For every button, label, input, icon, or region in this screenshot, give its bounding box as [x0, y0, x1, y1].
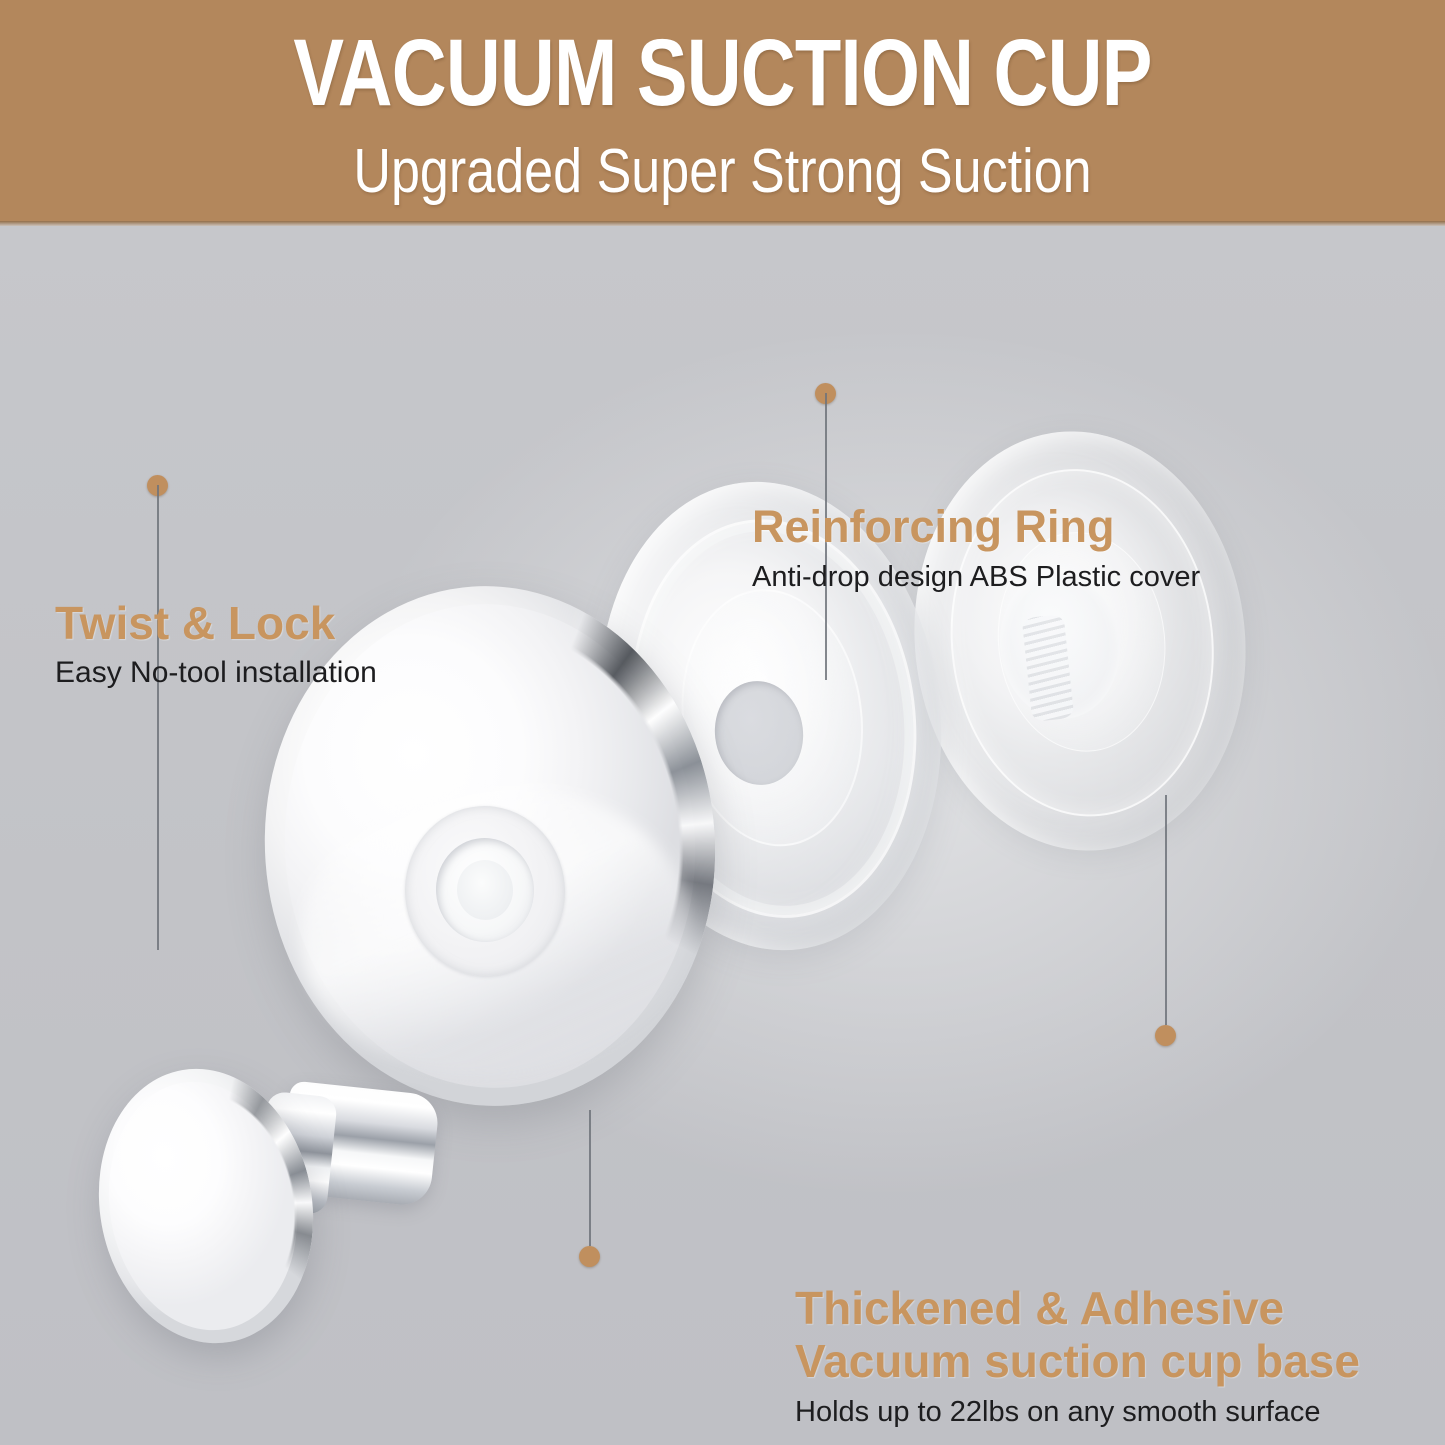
product-illustration — [0, 226, 1445, 1445]
leader-line-steel-material — [589, 1110, 591, 1246]
leader-line-suction-base — [1165, 795, 1167, 1025]
callout-reinforcing-ring-subtext: Anti-drop design ABS Plastic cover — [752, 557, 1200, 597]
callout-reinforcing-ring-heading: Reinforcing Ring — [752, 500, 1200, 554]
callout-reinforcing-ring: Reinforcing Ring Anti-drop design ABS Pl… — [752, 500, 1200, 597]
callout-suction-base-heading-line2: Vacuum suction cup base — [795, 1335, 1360, 1388]
callout-suction-base-heading-line1: Thickened & Adhesive — [795, 1282, 1360, 1335]
leader-line-twist-lock — [157, 485, 159, 950]
callout-twist-lock-heading: Twist & Lock — [55, 596, 377, 650]
callout-twist-lock: Twist & Lock Easy No-tool installation — [55, 596, 377, 693]
callout-suction-base-subtext: Holds up to 22lbs on any smooth surface — [795, 1392, 1360, 1432]
callout-suction-base: Thickened & Adhesive Vacuum suction cup … — [795, 1282, 1360, 1432]
leader-dot-steel-material — [579, 1246, 600, 1267]
product-stage: Twist & Lock Easy No-tool installation R… — [0, 226, 1445, 1445]
page-title: VACUUM SUCTION CUP — [145, 22, 1301, 125]
leader-dot-suction-base — [1155, 1025, 1176, 1046]
header-band: VACUUM SUCTION CUP Upgraded Super Strong… — [0, 0, 1445, 226]
page-subtitle: Upgraded Super Strong Suction — [116, 136, 1330, 207]
callout-twist-lock-subtext: Easy No-tool installation — [55, 653, 377, 693]
